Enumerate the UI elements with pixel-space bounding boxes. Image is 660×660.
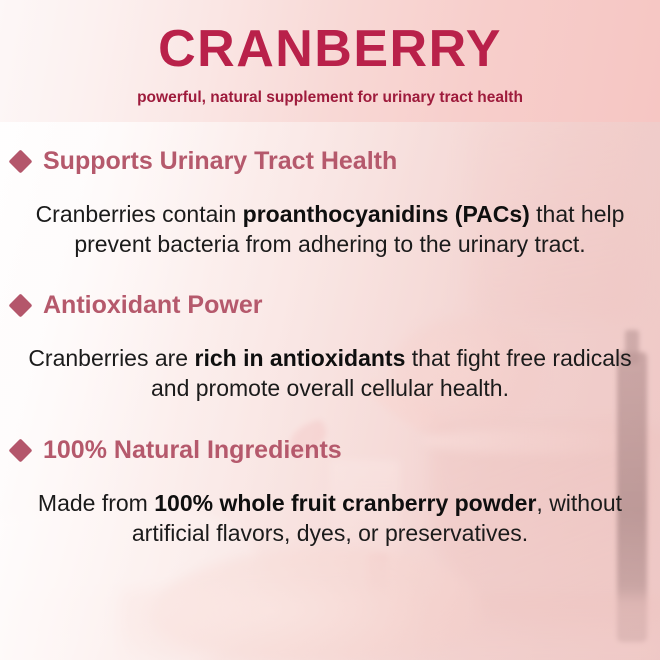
diamond-icon	[8, 439, 32, 463]
diamond-icon	[8, 150, 32, 174]
benefit-title-1: Supports Urinary Tract Health	[43, 148, 397, 176]
benefit-heading-row-3: 100% Natural Ingredients	[0, 437, 660, 465]
benefit-title-3: 100% Natural Ingredients	[43, 437, 342, 465]
benefit-body-3-bold: 100% whole fruit cranberry powder	[154, 490, 536, 516]
page-subtitle: powerful, natural supplement for urinary…	[0, 90, 660, 106]
benefit-title-2: Antioxidant Power	[43, 292, 262, 320]
benefit-body-2: Cranberries are rich in antioxidants tha…	[0, 344, 660, 404]
header-band: CRANBERRY powerful, natural supplement f…	[0, 0, 660, 122]
page-title: CRANBERRY	[0, 23, 660, 75]
benefit-body-3: Made from 100% whole fruit cranberry pow…	[0, 489, 660, 549]
cranberry-infographic: CRANBERRY powerful, natural supplement f…	[0, 0, 660, 660]
benefit-body-3-pre: Made from	[38, 490, 154, 516]
benefit-heading-row-2: Antioxidant Power	[0, 292, 660, 320]
benefit-body-1: Cranberries contain proanthocyanidins (P…	[0, 200, 660, 260]
benefit-body-2-bold: rich in antioxidants	[195, 345, 406, 371]
benefit-body-2-pre: Cranberries are	[28, 345, 194, 371]
benefit-body-1-bold: proanthocyanidins (PACs)	[243, 201, 530, 227]
benefit-heading-row-1: Supports Urinary Tract Health	[0, 148, 660, 176]
benefit-body-1-pre: Cranberries contain	[36, 201, 243, 227]
diamond-icon	[8, 294, 32, 318]
